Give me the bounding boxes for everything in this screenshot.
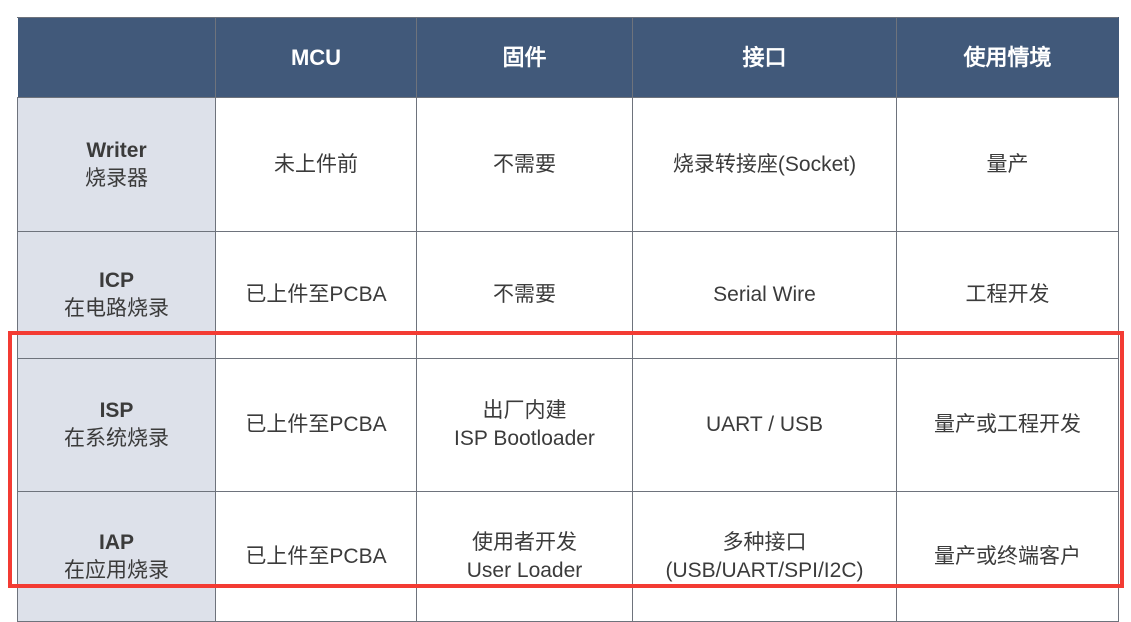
cell-icp-mcu: 已上件至PCBA: [216, 232, 417, 359]
cell-iap-mcu: 已上件至PCBA: [216, 492, 417, 622]
cell-line-2: ISP Bootloader: [423, 425, 626, 453]
cell-line-1: 使用者开发: [423, 529, 626, 557]
table-row: Writer 烧录器 未上件前 不需要 烧录转接座(Socket) 量产: [18, 98, 1119, 232]
table-row: ISP 在系统烧录 已上件至PCBA 出厂内建 ISP Bootloader U…: [18, 359, 1119, 492]
cell-line-1: 多种接口: [639, 529, 890, 557]
cell-line-2: (USB/UART/SPI/I2C): [639, 557, 890, 585]
row-header-iap: IAP 在应用烧录: [18, 492, 216, 622]
cell-icp-interface: Serial Wire: [633, 232, 897, 359]
row-label-sub: 在电路烧录: [24, 295, 209, 323]
row-label-sub: 在系统烧录: [24, 425, 209, 453]
cell-iap-scenario: 量产或终端客户: [897, 492, 1119, 622]
row-header-icp: ICP 在电路烧录: [18, 232, 216, 359]
cell-writer-interface: 烧录转接座(Socket): [633, 98, 897, 232]
row-header-isp: ISP 在系统烧录: [18, 359, 216, 492]
screenshot-canvas: MCU 固件 接口 使用情境 Writer 烧录器 未上件前 不需要 烧录转接座…: [0, 0, 1131, 598]
cell-icp-scenario: 工程开发: [897, 232, 1119, 359]
row-label-main: ICP: [24, 267, 209, 295]
table-row: IAP 在应用烧录 已上件至PCBA 使用者开发 User Loader 多种接…: [18, 492, 1119, 622]
cell-line-2: User Loader: [423, 557, 626, 585]
cell-writer-scenario: 量产: [897, 98, 1119, 232]
cell-line-1: Serial Wire: [639, 281, 890, 309]
header-row: MCU 固件 接口 使用情境: [18, 18, 1119, 98]
column-header-method: [18, 18, 216, 98]
table-row: ICP 在电路烧录 已上件至PCBA 不需要 Serial Wire 工程开发: [18, 232, 1119, 359]
cell-writer-firmware: 不需要: [417, 98, 633, 232]
table-body: Writer 烧录器 未上件前 不需要 烧录转接座(Socket) 量产 ICP…: [18, 98, 1119, 622]
programming-methods-table: MCU 固件 接口 使用情境 Writer 烧录器 未上件前 不需要 烧录转接座…: [17, 17, 1119, 622]
row-label-main: ISP: [24, 397, 209, 425]
cell-line-1: UART / USB: [639, 411, 890, 439]
column-header-scenario: 使用情境: [897, 18, 1119, 98]
row-label-sub: 烧录器: [24, 165, 209, 193]
cell-iap-firmware: 使用者开发 User Loader: [417, 492, 633, 622]
cell-line-1: 不需要: [423, 151, 626, 179]
row-label-main: Writer: [24, 137, 209, 165]
row-label-sub: 在应用烧录: [24, 557, 209, 585]
cell-icp-firmware: 不需要: [417, 232, 633, 359]
cell-isp-firmware: 出厂内建 ISP Bootloader: [417, 359, 633, 492]
cell-line-1: 出厂内建: [423, 397, 626, 425]
cell-isp-mcu: 已上件至PCBA: [216, 359, 417, 492]
cell-isp-interface: UART / USB: [633, 359, 897, 492]
row-label-main: IAP: [24, 529, 209, 557]
column-header-interface: 接口: [633, 18, 897, 98]
cell-line-1: 不需要: [423, 281, 626, 309]
table-header: MCU 固件 接口 使用情境: [18, 18, 1119, 98]
row-header-writer: Writer 烧录器: [18, 98, 216, 232]
column-header-firmware: 固件: [417, 18, 633, 98]
cell-isp-scenario: 量产或工程开发: [897, 359, 1119, 492]
column-header-mcu: MCU: [216, 18, 417, 98]
cell-writer-mcu: 未上件前: [216, 98, 417, 232]
cell-line-1: 烧录转接座(Socket): [639, 151, 890, 179]
cell-iap-interface: 多种接口 (USB/UART/SPI/I2C): [633, 492, 897, 622]
